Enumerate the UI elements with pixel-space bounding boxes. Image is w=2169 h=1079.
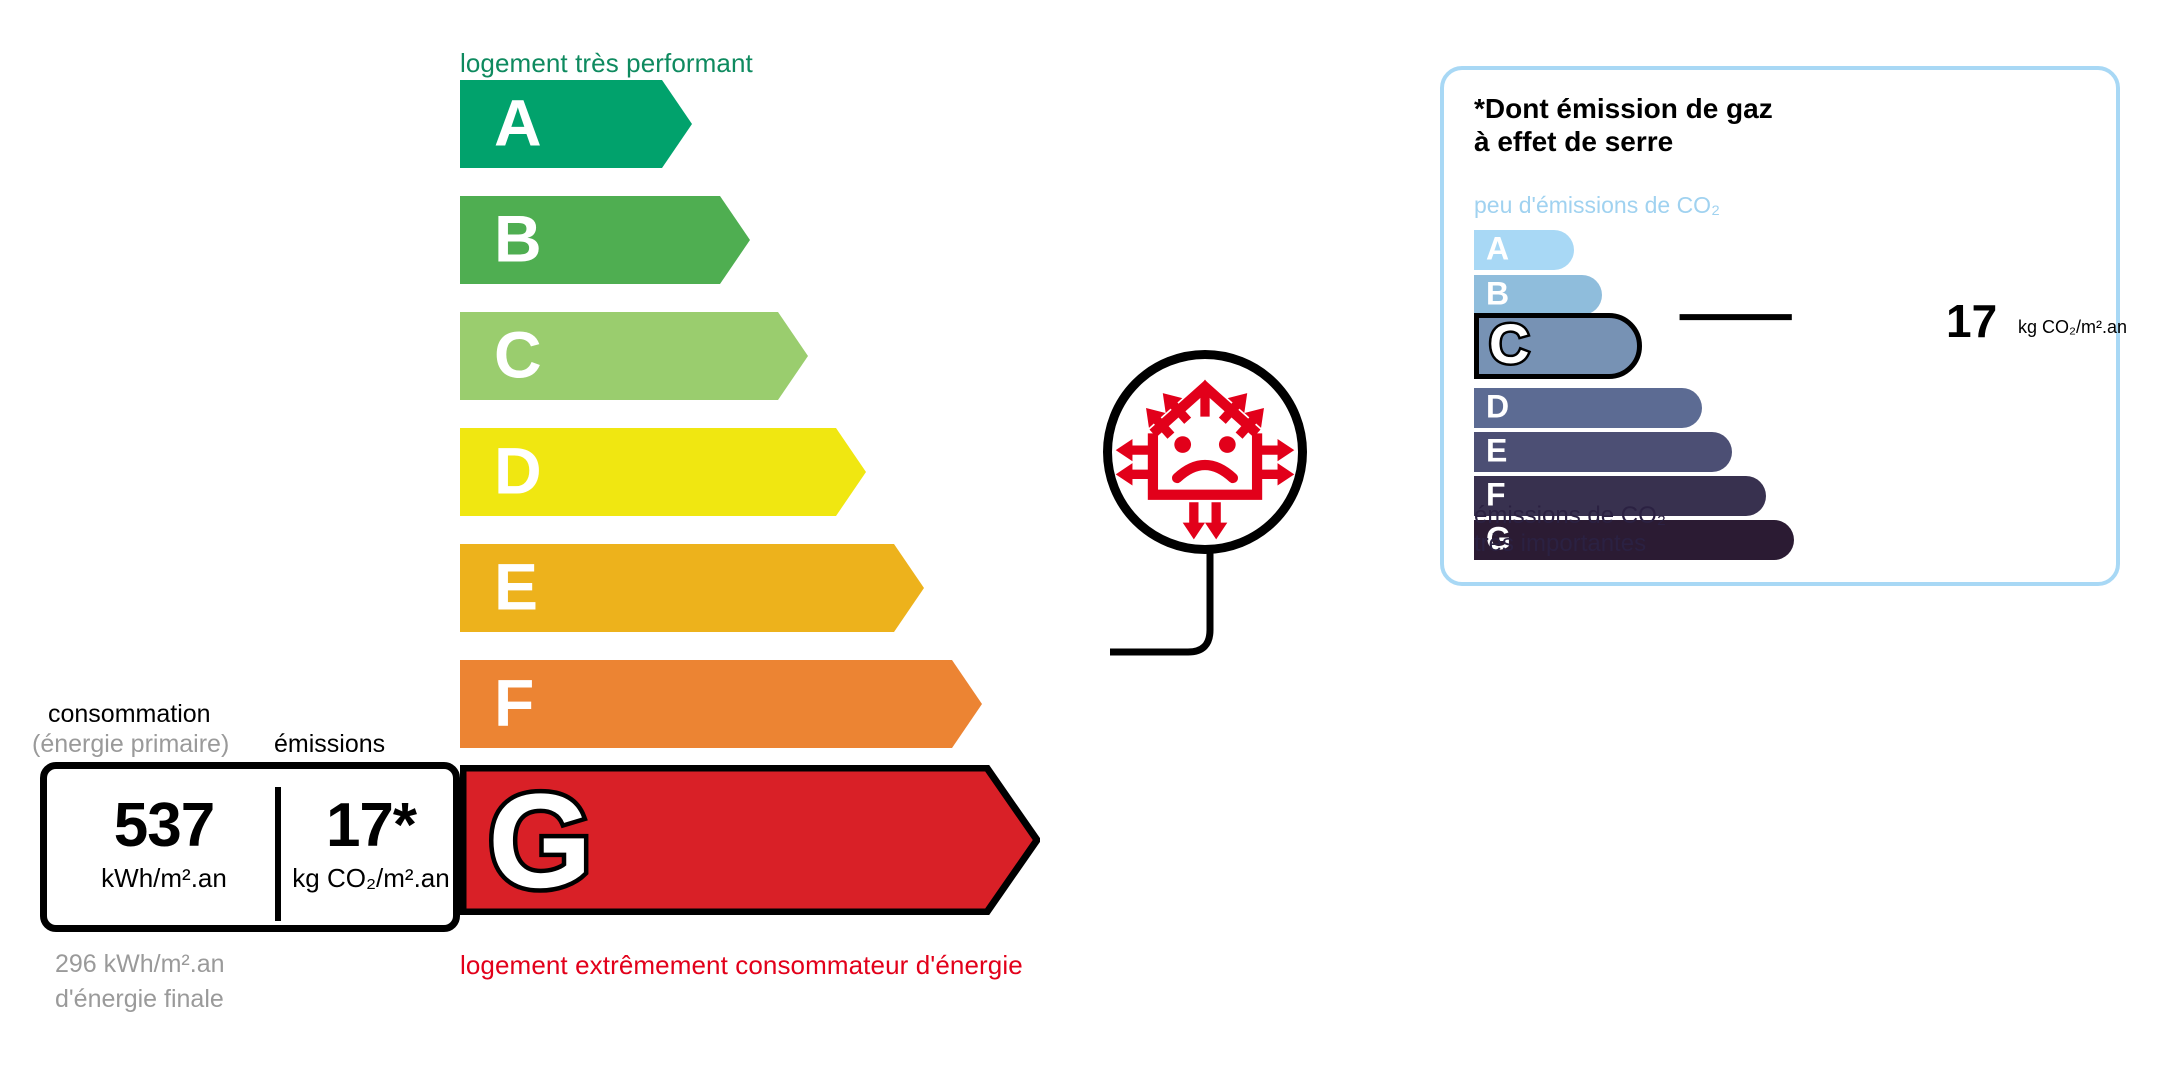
energy-band-letter: B <box>494 206 542 272</box>
energy-band-a[interactable]: A <box>460 80 692 168</box>
ghg-band-c-selected[interactable]: C <box>1474 313 1642 379</box>
energy-band-g-selected[interactable]: G <box>460 765 1040 915</box>
consumption-value: 537 <box>53 795 275 857</box>
consumption-unit: kWh/m².an <box>53 865 275 891</box>
energy-band-letter: C <box>494 322 542 388</box>
final-energy-value: 296 kWh/m².an <box>55 950 225 979</box>
energy-band-letter: E <box>494 554 538 620</box>
energy-band-f[interactable]: F <box>460 660 982 748</box>
ghg-emissions-panel: *Dont émission de gaz à effet de serre p… <box>1440 66 2120 586</box>
emission-value: 17* <box>281 795 461 857</box>
final-energy-label: d'énergie finale <box>55 985 224 1014</box>
values-box: 537 kWh/m².an 17* kg CO₂/m².an <box>40 762 460 932</box>
energy-band-b[interactable]: B <box>460 196 750 284</box>
house-heat-loss-sad-icon <box>1112 359 1298 545</box>
energy-band-letter: D <box>494 438 542 504</box>
emissions-header: émissions <box>274 730 385 759</box>
emission-value-cell: 17* kg CO₂/m².an <box>281 769 461 925</box>
consumption-value-cell: 537 kWh/m².an <box>53 769 275 925</box>
energy-high-caption: logement extrêmement consommateur d'éner… <box>460 950 1023 981</box>
dpe-label: logement très performant A B C D <box>0 0 2169 1079</box>
consommation-header: consommation <box>48 700 211 729</box>
ghg-band-letter: C <box>1489 316 1529 372</box>
energy-band-c[interactable]: C <box>460 312 808 400</box>
energy-low-caption: logement très performant <box>460 48 753 79</box>
svg-text:G: G <box>488 775 592 905</box>
emission-unit: kg CO₂/m².an <box>281 865 461 891</box>
energy-band-letter: F <box>494 670 534 736</box>
energy-performance-panel: logement très performant A B C D <box>0 0 1400 1079</box>
energy-band-e[interactable]: E <box>460 544 924 632</box>
energy-band-letter: A <box>494 90 542 156</box>
chevron-shape-f <box>460 660 982 748</box>
energy-band-d[interactable]: D <box>460 428 866 516</box>
house-heat-loss-badge <box>1103 350 1307 554</box>
selected-letter-g: G <box>482 775 612 905</box>
energie-primaire-subheader: (énergie primaire) <box>32 730 229 759</box>
